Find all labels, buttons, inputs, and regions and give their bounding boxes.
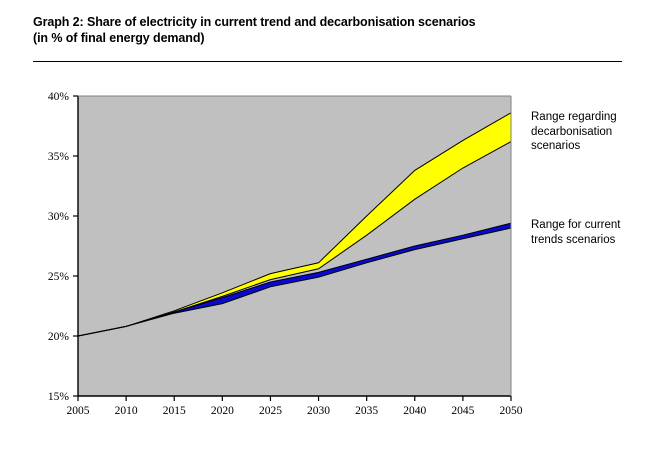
x-tick-label: 2035 bbox=[355, 405, 378, 417]
x-axis-ticks: 2005201020152020202520302035204020452050 bbox=[67, 396, 523, 417]
x-tick-label: 2040 bbox=[403, 405, 426, 417]
x-tick-label: 2010 bbox=[115, 405, 138, 417]
y-tick-label: 15% bbox=[48, 391, 70, 403]
y-tick-label: 20% bbox=[48, 331, 70, 343]
x-tick-label: 2025 bbox=[259, 405, 282, 417]
plot-background bbox=[78, 96, 511, 396]
legend-label-current-trends: Range for current trends scenarios bbox=[531, 218, 651, 247]
y-tick-label: 35% bbox=[48, 151, 70, 163]
y-tick-label: 25% bbox=[48, 271, 70, 283]
legend-label-decarbonisation: Range regarding decarbonisation scenario… bbox=[531, 110, 651, 154]
y-tick-label: 40% bbox=[48, 91, 70, 103]
chart-figure: 40%35%30%25%20%15% 200520102015202020252… bbox=[0, 0, 655, 469]
x-tick-label: 2050 bbox=[500, 405, 523, 417]
x-tick-label: 2030 bbox=[307, 405, 330, 417]
y-tick-label: 30% bbox=[48, 211, 70, 223]
x-tick-label: 2045 bbox=[451, 405, 474, 417]
x-tick-label: 2020 bbox=[211, 405, 234, 417]
x-tick-label: 2005 bbox=[67, 405, 90, 417]
y-axis-ticks: 40%35%30%25%20%15% bbox=[48, 91, 78, 403]
x-tick-label: 2015 bbox=[163, 405, 186, 417]
